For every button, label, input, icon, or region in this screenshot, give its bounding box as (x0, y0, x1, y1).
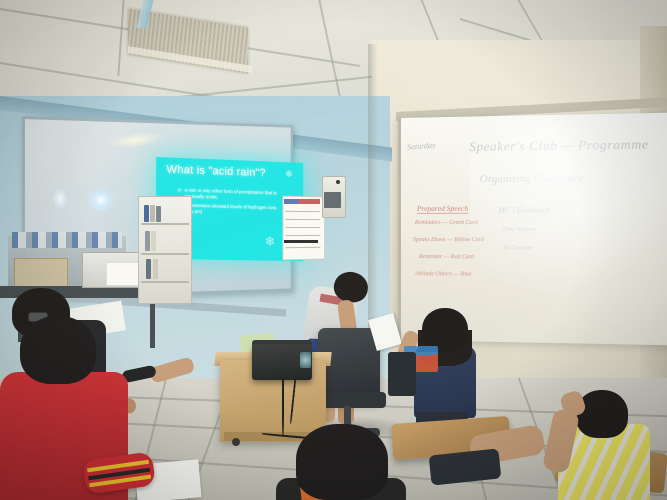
speaker-grill-icon (324, 192, 341, 208)
paper-stack (106, 262, 142, 286)
file-folders (12, 232, 122, 248)
whiteboard-column-left-item: Attitude Others — Blue (415, 271, 472, 277)
yellow-student-head (576, 390, 628, 438)
whiteboard-column-right-item: Time Keeper (502, 226, 536, 233)
classroom-photo: Saturday Speaker's Club — Programme Orga… (0, 0, 667, 500)
whiteboard-column-left-item: Reminder — Red Card (419, 254, 474, 260)
projector-light-spot (52, 188, 68, 210)
whiteboard-column-right-title: MC / Evaluator (498, 205, 550, 214)
table-caster (232, 438, 240, 446)
whiteboard-column-left-title: Prepared Speech (417, 204, 468, 214)
whiteboard-heading: Speaker's Club — Programme (469, 136, 648, 155)
snowflake-icon: ❄ (285, 170, 293, 180)
slide-title: What is "acid rain"? (166, 164, 291, 180)
projector-lens-icon (300, 352, 311, 368)
slide-bullet: a rain or any other form of precipitatio… (178, 187, 282, 202)
cardboard-box (14, 258, 68, 288)
timetable-poster (282, 196, 325, 261)
whiteboard-corner-label: Saturday (407, 141, 436, 152)
red-shirt-student-head (20, 316, 96, 384)
storage-cabinet (138, 196, 192, 304)
center-student-head (296, 424, 388, 500)
timetable-header-band (284, 199, 320, 204)
projector-cable (282, 378, 284, 436)
whiteboard-column-right-item: Ah Counter (502, 244, 533, 251)
whiteboard-subheading: Organising Committee (480, 172, 584, 185)
desk-left-dark (388, 352, 416, 396)
snowflake-icon: ❄ (265, 235, 276, 248)
whiteboard-column-left-item: Reminders — Green Card (415, 220, 478, 226)
slide-bullet: it possesses elevated levels of hydrogen… (178, 203, 282, 218)
timetable-divider (284, 240, 318, 243)
whiteboard-column-left-item: Speaks Down — Yellow Card (413, 237, 484, 243)
projector-light-spot (86, 186, 116, 214)
speaker-led-icon (336, 180, 340, 184)
